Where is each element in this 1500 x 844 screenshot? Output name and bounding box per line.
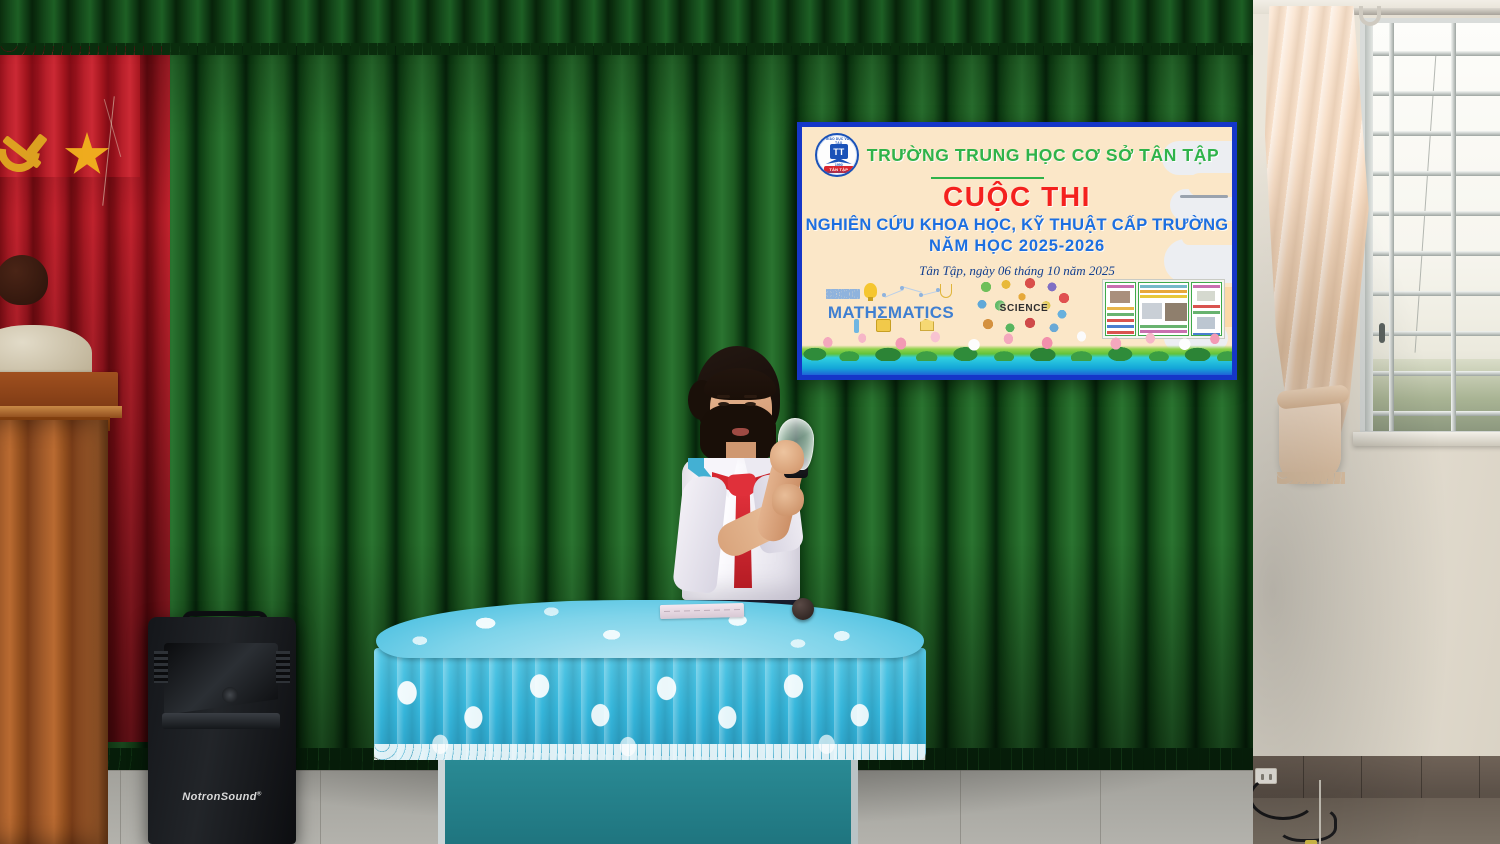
- flag-panel: [0, 52, 140, 177]
- podium-person-head: [0, 255, 48, 305]
- paper-handout: [660, 603, 744, 619]
- vietnam-star-icon: [64, 132, 110, 178]
- presenter-hand: [772, 484, 804, 516]
- banner-divider: [931, 177, 1044, 179]
- hammer-sickle-icon: [0, 126, 54, 182]
- sine-wave-icon: [826, 289, 860, 299]
- banner-headline: CUỘC THI: [802, 181, 1232, 213]
- banner-subtitle-line-1: NGHIÊN CỨU KHOA HỌC, KỸ THUẬT CẤP TRƯỜNG: [802, 216, 1232, 235]
- trademark-symbol: ®: [257, 791, 262, 797]
- presenter-mouth: [732, 428, 749, 436]
- table-skirt-hem: [374, 744, 926, 760]
- school-logo-icon: SỞ GIÁO DỤC VÀ ĐÀO TẠO TT 1990 TÂN TẬP T…: [815, 133, 859, 177]
- mathematics-wordmark: MATHΣMATICS: [820, 303, 962, 323]
- wall-shadow: [1253, 0, 1500, 844]
- display-board-panel: [438, 756, 858, 844]
- pa-speaker: NotronSound®: [148, 617, 296, 844]
- banner-subtitle-line-2: NĂM HỌC 2025-2026: [802, 237, 1232, 256]
- presenter-eyebrow: [744, 395, 757, 398]
- curtain-valance: [0, 0, 1253, 46]
- science-wordmark: SCIENCE: [974, 303, 1074, 314]
- scene-root: NotronSound®: [0, 0, 1500, 844]
- speaker-cone-icon: [222, 687, 238, 703]
- speaker-brand-label: NotronSound®: [148, 791, 296, 803]
- flask-icon: [940, 284, 952, 298]
- presenter-hand: [770, 440, 804, 474]
- speaker-vent: [276, 651, 290, 683]
- dark-round-object: [792, 598, 814, 620]
- presenter-scarf-knot: [727, 473, 756, 497]
- right-wall: [1253, 0, 1500, 844]
- wooden-podium: [0, 420, 108, 844]
- speaker-brand-text: NotronSound: [182, 791, 257, 803]
- graph-nodes-icon: [882, 285, 940, 299]
- student-presenter: [660, 346, 850, 616]
- speaker-grill: [164, 643, 278, 715]
- speaker-vent: [154, 651, 168, 683]
- banner-header-row: SỞ GIÁO DỤC VÀ ĐÀO TẠO TT 1990 TÂN TẬP T…: [802, 133, 1232, 177]
- logo-arc-bottom-text: TRUNG HỌC CƠ SỞ: [817, 170, 859, 174]
- lightbulb-icon: [864, 283, 877, 298]
- event-banner: SỞ GIÁO DỤC VÀ ĐÀO TẠO TT 1990 TÂN TẬP T…: [797, 122, 1237, 380]
- speaker-lip: [162, 713, 280, 729]
- logo-monogram: TT: [830, 144, 848, 159]
- hall-interior: NotronSound®: [0, 0, 1253, 844]
- lotus-flowers: [802, 325, 1232, 355]
- presenter-eye: [745, 402, 756, 406]
- presenter-eye: [718, 402, 729, 406]
- presenter-eyebrow: [717, 395, 730, 398]
- podium-top: [0, 372, 118, 410]
- banner-inner: SỞ GIÁO DỤC VÀ ĐÀO TẠO TT 1990 TÂN TẬP T…: [802, 127, 1232, 375]
- banner-school-name: TRƯỜNG TRUNG HỌC CƠ SỞ TÂN TẬP: [867, 145, 1219, 166]
